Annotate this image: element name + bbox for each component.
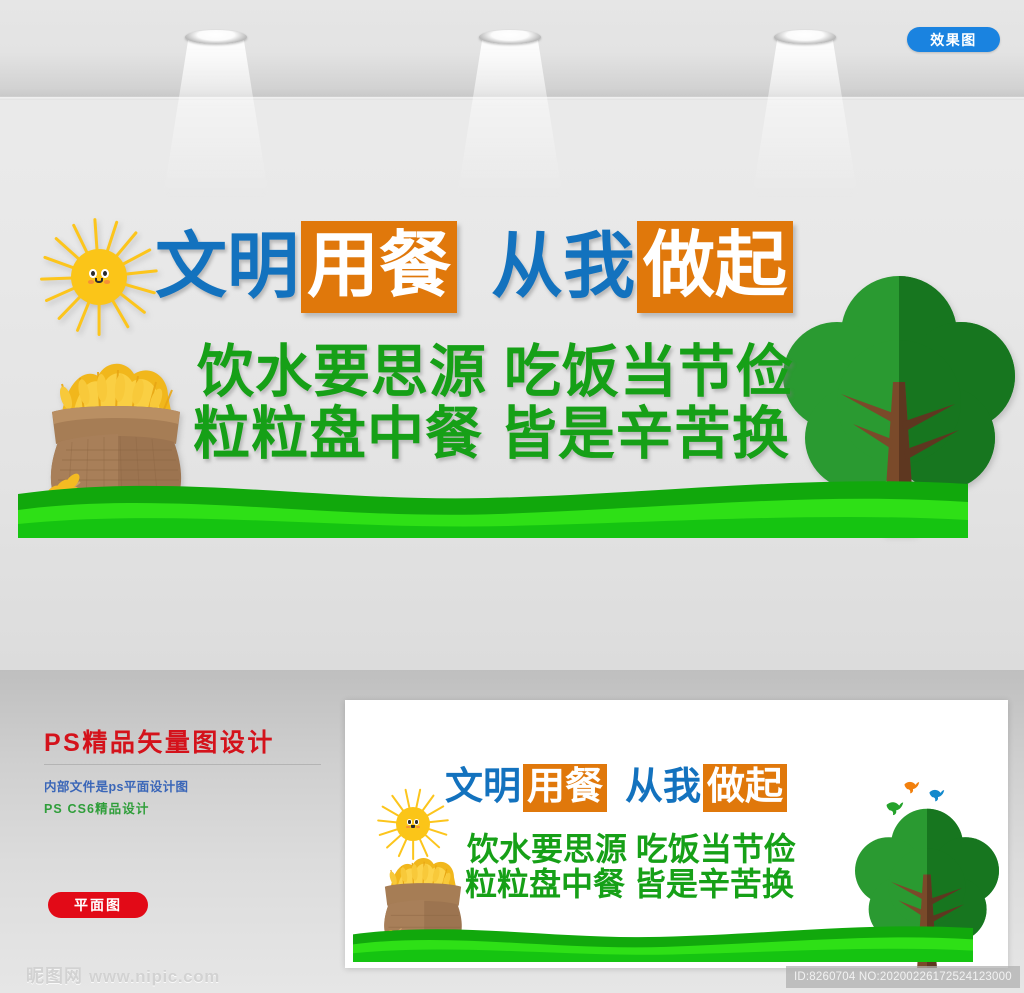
headline-part-2-highlight: 用餐: [301, 221, 457, 313]
sun-eye-left: [89, 269, 96, 278]
sun-blush-left: [88, 280, 94, 284]
grass-icon: [18, 468, 968, 538]
sun-eye-right: [101, 269, 108, 278]
watermark-logo-text: 昵图网: [26, 962, 83, 988]
divider-rule: [44, 764, 321, 765]
headline-part-2-highlight: 用餐: [523, 764, 607, 812]
sun-face: [71, 249, 128, 306]
sun-mouth: [411, 825, 416, 828]
headline-part-3: 从我: [625, 765, 701, 810]
watermark-url: www.nipic.com: [89, 967, 220, 987]
sun-icon: [40, 218, 158, 336]
ps-design-subtitle-2: PS CS6精品设计: [44, 798, 149, 817]
ceiling-spotlight-icon: [774, 30, 836, 44]
subline-1: 饮水要思源 吃饭当节俭: [467, 830, 796, 868]
sun-blush-right: [104, 280, 110, 284]
sun-eye-right: [414, 819, 418, 825]
spotlight-rim: [774, 30, 836, 44]
subline-1: 饮水要思源 吃饭当节俭: [197, 339, 794, 405]
bird-blue-icon: [928, 788, 945, 802]
site-watermark: 昵图网 www.nipic.com: [26, 962, 220, 988]
subline-2: 粒粒盘中餐 皆是辛苦换: [193, 401, 790, 467]
flat-view-badge[interactable]: 平面图: [48, 892, 148, 918]
sun-eye-left: [407, 819, 411, 825]
headline-part-3: 从我: [491, 224, 635, 310]
headline-group: 文明 用餐 从我 做起: [155, 224, 793, 310]
headline-part-1: 文明: [155, 224, 299, 310]
spotlight-rim: [185, 30, 247, 44]
asset-id-badge: ID:8260704 NO:20200226172524123000: [786, 966, 1020, 988]
headline-group: 文明 用餐 从我 做起: [445, 765, 787, 810]
effect-view-badge[interactable]: 效果图: [907, 27, 1000, 52]
wall-artwork-small: 文明 用餐 从我 做起 饮水要思源 吃饭当节俭 粒粒盘中餐 皆是辛苦换: [345, 700, 1008, 968]
sun-icon: [377, 788, 449, 860]
wall-artwork-large: 文明 用餐 从我 做起 饮水要思源 吃饭当节俭 粒粒盘中餐 皆是辛苦换: [0, 96, 1024, 566]
sun-blush-left: [406, 826, 410, 828]
grass-icon: [353, 918, 973, 962]
bird-orange-icon: [903, 780, 920, 794]
headline-part-4-highlight: 做起: [703, 764, 787, 812]
ceiling-spotlight-icon: [479, 30, 541, 44]
flat-design-preview-card[interactable]: 文明 用餐 从我 做起 饮水要思源 吃饭当节俭 粒粒盘中餐 皆是辛苦换: [345, 700, 1008, 968]
room-mockup-scene: 文明 用餐 从我 做起 饮水要思源 吃饭当节俭 粒粒盘中餐 皆是辛苦换: [0, 0, 1024, 670]
subline-2: 粒粒盘中餐 皆是辛苦换: [465, 865, 794, 903]
headline-part-4-highlight: 做起: [637, 221, 793, 313]
ps-design-subtitle-1: 内部文件是ps平面设计图: [44, 776, 188, 795]
ceiling-spotlight-icon: [185, 30, 247, 44]
ps-design-title: PS精品矢量图设计: [44, 723, 275, 759]
spotlight-rim: [479, 30, 541, 44]
sun-mouth: [95, 278, 103, 283]
headline-part-1: 文明: [445, 765, 521, 810]
sun-blush-right: [416, 826, 420, 828]
